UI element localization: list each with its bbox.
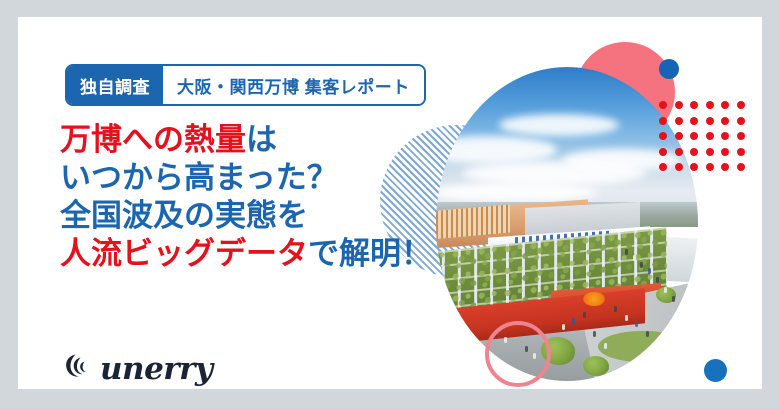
grid-dot [675, 132, 683, 140]
headline-line-2: いつから高まった？ [60, 159, 432, 197]
grid-dot [675, 148, 683, 156]
grid-dot [675, 117, 683, 125]
photo-grass [598, 331, 687, 362]
photo-cloud [436, 183, 598, 202]
grid-dot [659, 101, 667, 109]
photo-visitor [604, 343, 607, 349]
photo-visitor [583, 312, 586, 318]
unerry-logo: unerry [62, 349, 212, 388]
headline-line-1-accent: 万博への熱量 [60, 122, 246, 157]
headline-line-1-base: は [246, 122, 277, 157]
blue-dot-top-decoration [659, 59, 679, 79]
badge-tag-label: 独自調査 [67, 66, 163, 104]
grid-dot [690, 148, 698, 156]
grid-dot [706, 101, 714, 109]
headline-line-4: 人流ビッグデータで解明！ [60, 235, 432, 273]
grid-dot [659, 148, 667, 156]
report-card: 独自調査 大阪・関西万博 集客レポート 万博への熱量は いつから高まった？ 全国… [18, 17, 762, 389]
photo-visitor [614, 306, 617, 312]
photo-cloud [499, 114, 620, 136]
grid-dot [721, 132, 729, 140]
grid-dot [721, 148, 729, 156]
pink-ring-decoration [485, 321, 551, 387]
photo-visitor [625, 249, 628, 255]
grid-dot [706, 132, 714, 140]
photo-visitor [635, 321, 638, 327]
photo-visitor [640, 262, 643, 268]
photo-visitor [633, 255, 636, 261]
red-dot-grid-decoration [659, 101, 749, 187]
grid-dot [690, 132, 698, 140]
grid-dot [706, 148, 714, 156]
swirl-icon [62, 349, 96, 388]
logo-wordmark: unerry [100, 351, 212, 387]
photo-visitor [656, 277, 659, 283]
grid-dot [737, 117, 745, 125]
photo-visitor [667, 350, 670, 356]
page-title: 万博への熱量は いつから高まった？ 全国波及の実態を 人流ビッグデータで解明！ [60, 121, 432, 273]
grid-dot [706, 163, 714, 171]
photo-visitor [672, 296, 675, 302]
grid-dot [659, 132, 667, 140]
report-badge: 独自調査 大阪・関西万博 集客レポート [65, 64, 426, 106]
grid-dot [737, 163, 745, 171]
screenshot-stage: 独自調査 大阪・関西万博 集客レポート 万博への熱量は いつから高まった？ 全国… [0, 0, 780, 409]
grid-dot [721, 117, 729, 125]
grid-dot [659, 117, 667, 125]
headline-line-3: 全国波及の実態を [60, 197, 432, 235]
badge-title-label: 大阪・関西万博 集客レポート [163, 66, 424, 104]
blue-dot-bottom-decoration [704, 359, 727, 382]
photo-visitor [593, 331, 596, 337]
photo-visitor [562, 324, 565, 330]
grid-dot [737, 148, 745, 156]
grid-dot [659, 163, 667, 171]
grid-dot [690, 163, 698, 171]
headline-line-2-base: いつから高まった？ [60, 160, 338, 195]
grid-dot [706, 117, 714, 125]
grid-dot [690, 101, 698, 109]
grid-dot [737, 132, 745, 140]
photo-visitor [664, 287, 667, 293]
headline-line-3-base: 全国波及の実態を [60, 198, 308, 233]
photo-visitor [625, 315, 628, 321]
photo-visitor [656, 340, 659, 346]
headline-line-4-accent: 人流ビッグデータ [60, 236, 308, 271]
grid-dot [721, 101, 729, 109]
grid-dot [737, 101, 745, 109]
grid-dot [690, 117, 698, 125]
grid-dot [675, 163, 683, 171]
photo-sun-graphic [583, 292, 605, 306]
grid-dot [675, 101, 683, 109]
grid-dot [721, 163, 729, 171]
photo-visitor [646, 331, 649, 337]
photo-tree [583, 356, 609, 376]
headline-line-4-base: で解明！ [308, 236, 432, 271]
photo-visitor [648, 268, 651, 274]
headline-line-1: 万博への熱量は [60, 121, 432, 159]
